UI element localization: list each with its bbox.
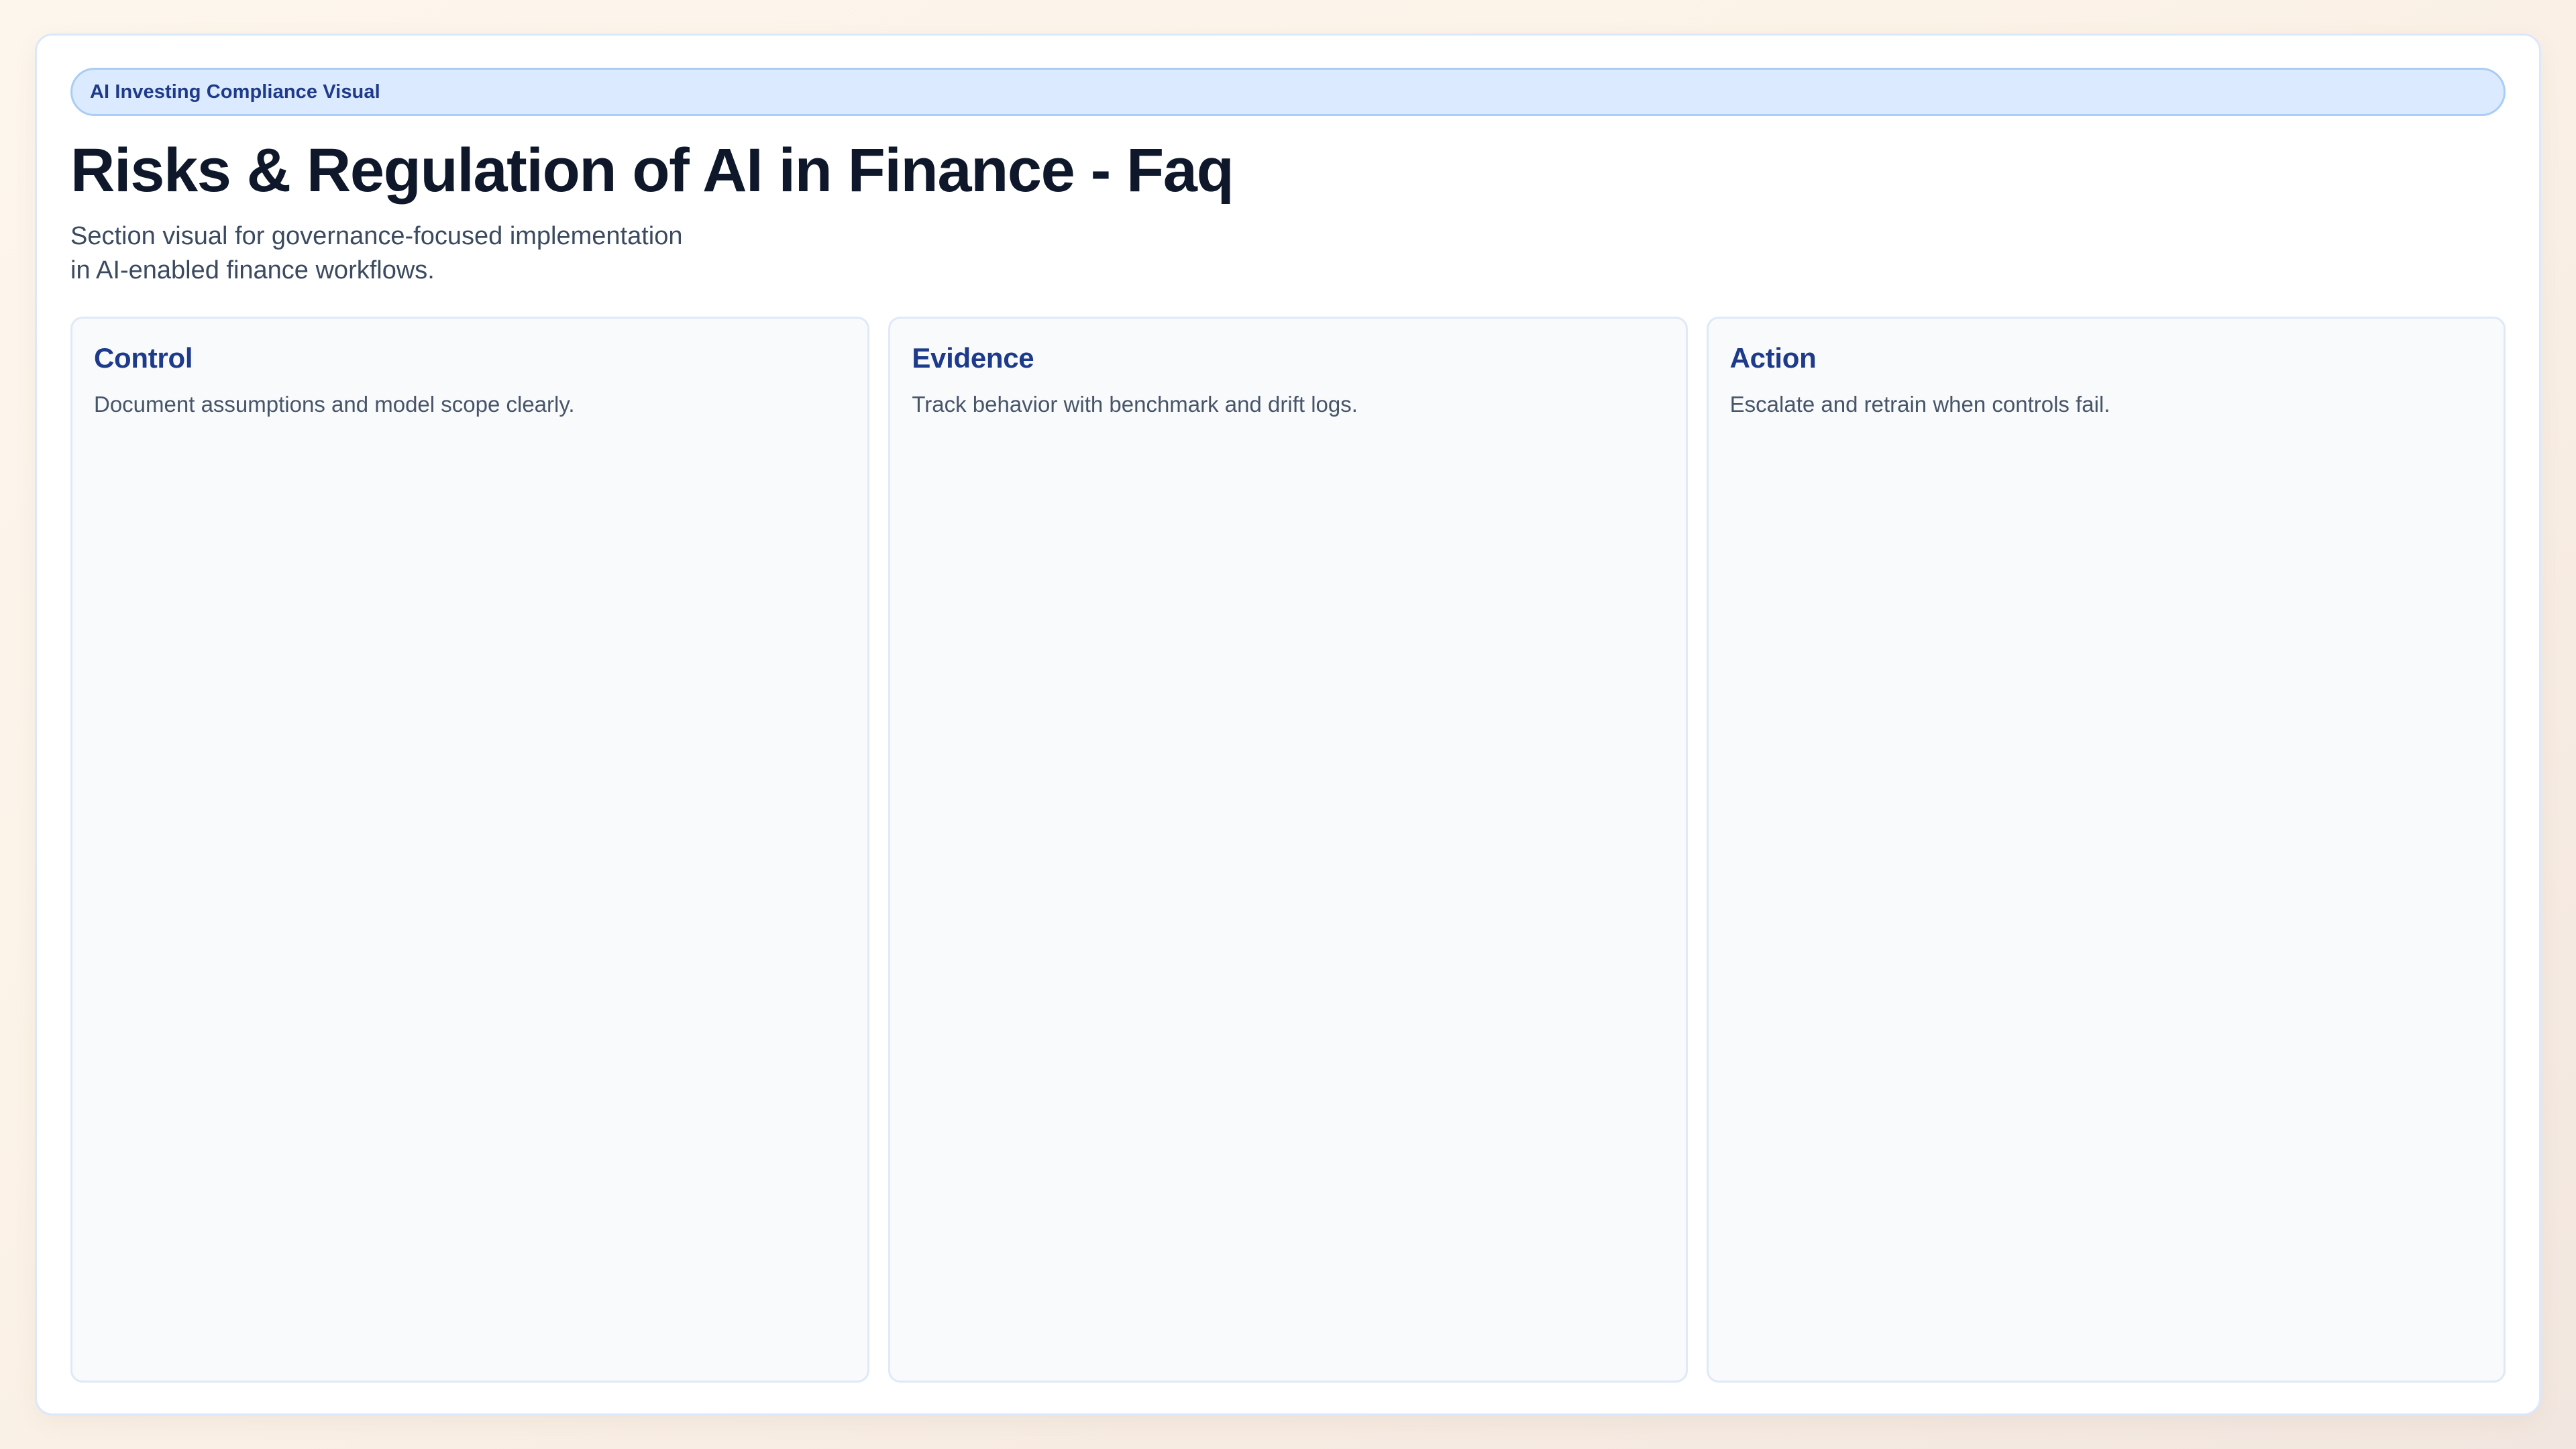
header-block: Risks & Regulation of AI in Finance - Fa… (70, 116, 2506, 287)
card-body: Escalate and retrain when controls fail. (1730, 389, 2482, 420)
card-title: Evidence (912, 343, 1664, 374)
card-title: Control (94, 343, 846, 374)
info-card-action: Action Escalate and retrain when control… (1707, 317, 2506, 1383)
section-badge-label: AI Investing Compliance Visual (90, 81, 380, 103)
app-shell: AI Investing Compliance Visual Risks & R… (35, 34, 2541, 1415)
card-body: Track behavior with benchmark and drift … (912, 389, 1664, 420)
section-badge-bar: AI Investing Compliance Visual (70, 68, 2506, 116)
info-card-evidence: Evidence Track behavior with benchmark a… (888, 317, 1687, 1383)
page-root: AI Investing Compliance Visual Risks & R… (0, 0, 2576, 1449)
info-card-control: Control Document assumptions and model s… (70, 317, 869, 1383)
page-title: Risks & Regulation of AI in Finance - Fa… (70, 139, 2506, 203)
card-title: Action (1730, 343, 2482, 374)
card-grid: Control Document assumptions and model s… (70, 317, 2506, 1383)
page-subtitle: Section visual for governance-focused im… (70, 219, 875, 288)
card-body: Document assumptions and model scope cle… (94, 389, 846, 420)
page-subtitle-line-1: Section visual for governance-focused im… (70, 219, 875, 254)
page-subtitle-line-2: in AI-enabled finance workflows. (70, 254, 875, 288)
